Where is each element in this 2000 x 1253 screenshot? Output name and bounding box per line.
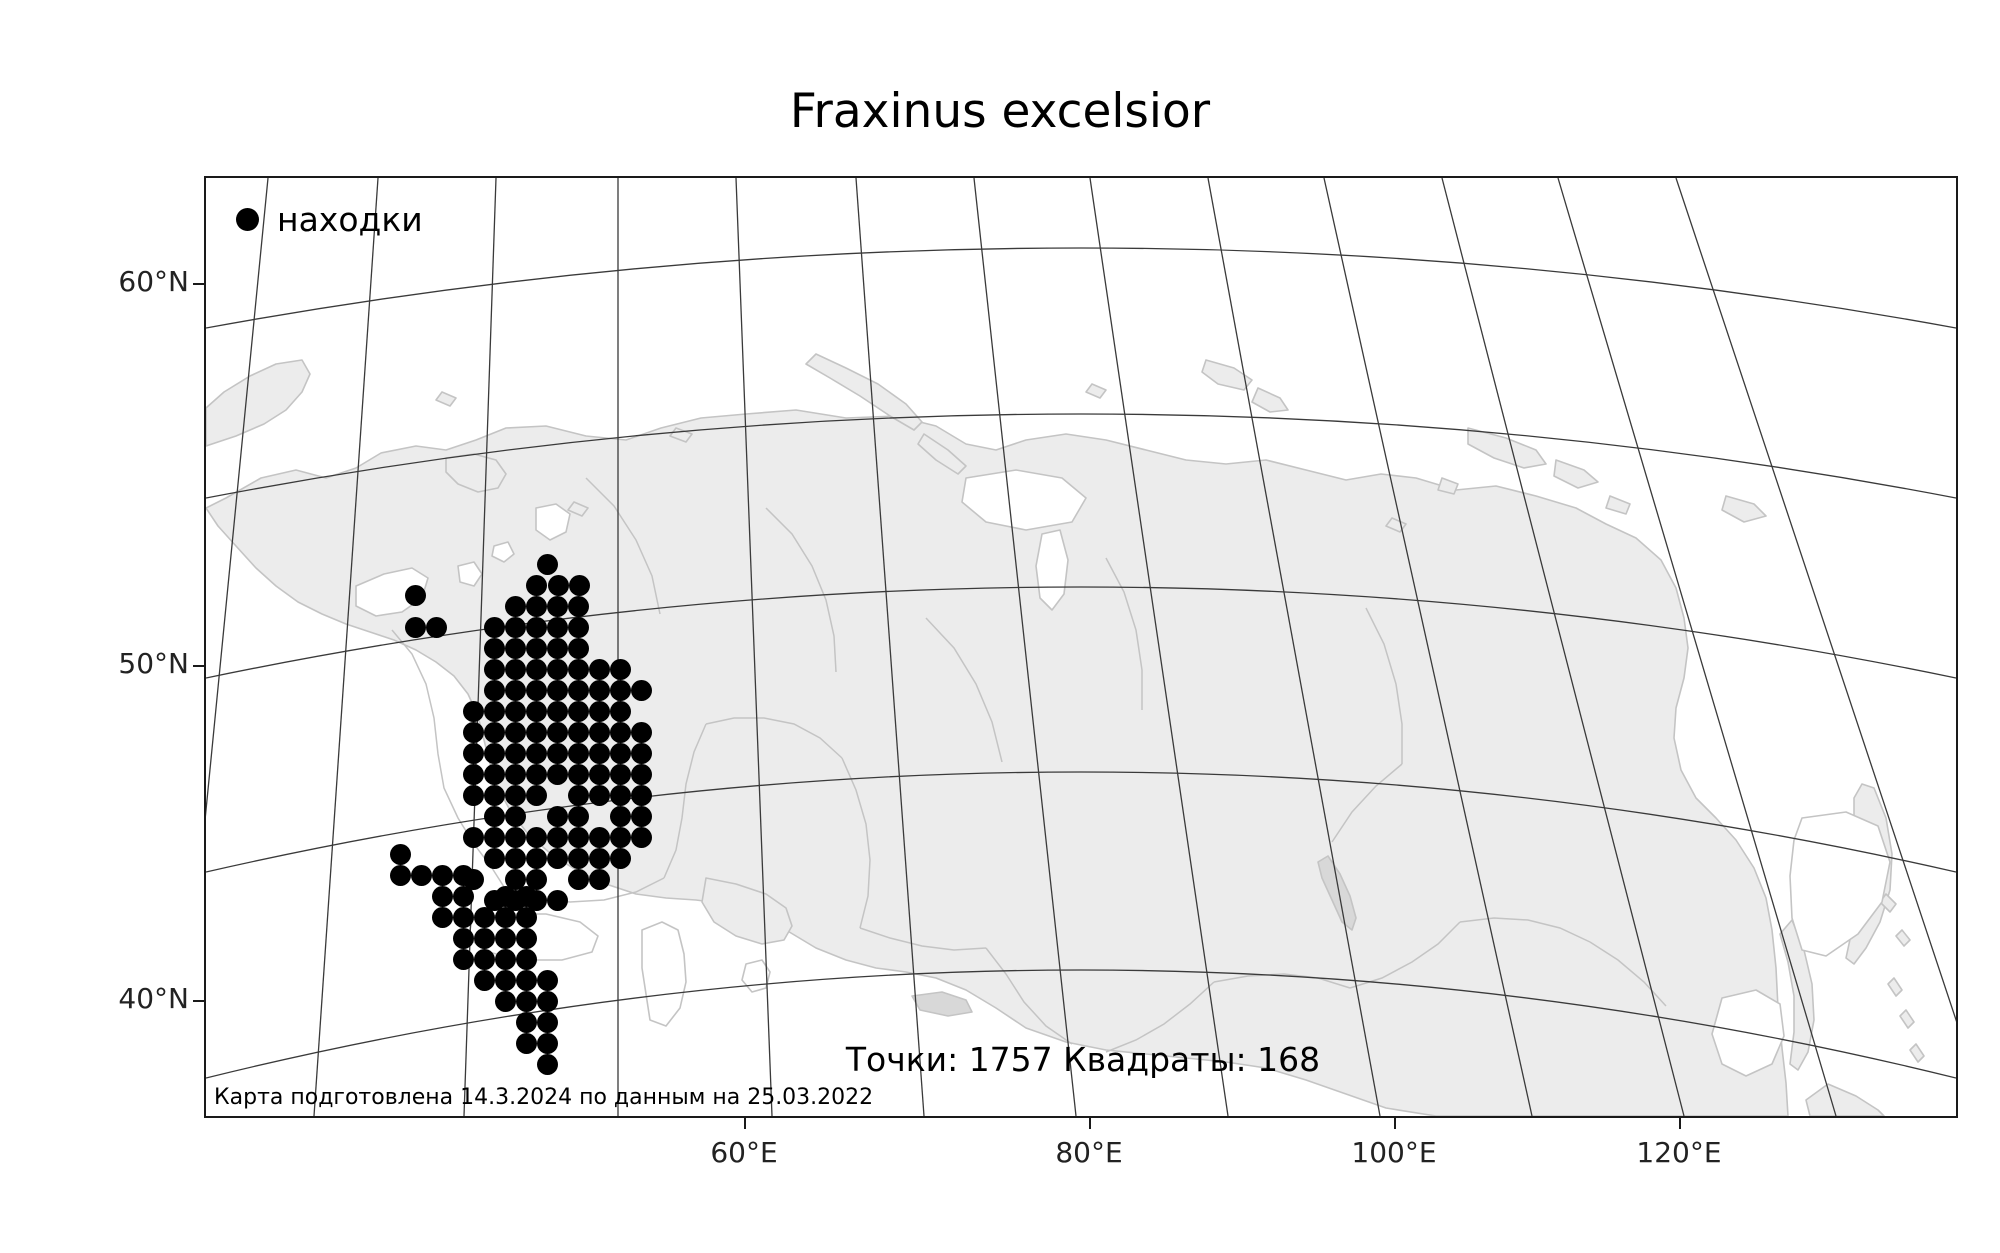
occurrence-dot	[495, 970, 516, 991]
occurrence-dot	[411, 865, 432, 886]
occurrence-dot	[516, 991, 537, 1012]
occurrence-dot	[610, 701, 631, 722]
occurrence-dot	[405, 617, 426, 638]
occurrence-dot	[568, 743, 589, 764]
occurrence-dot	[610, 806, 631, 827]
occurrence-dot	[526, 743, 547, 764]
occurrence-dot	[516, 970, 537, 991]
occurrence-dot	[537, 991, 558, 1012]
occurrence-dot	[589, 659, 610, 680]
occurrence-dot	[589, 701, 610, 722]
occurrence-dot	[547, 890, 568, 911]
occurrence-dot	[484, 743, 505, 764]
occurrence-dot	[505, 743, 526, 764]
legend: находки	[236, 200, 423, 239]
occurrence-dot	[453, 907, 474, 928]
occurrence-dot	[505, 701, 526, 722]
occurrence-dot	[631, 806, 652, 827]
occurrence-dot	[453, 949, 474, 970]
occurrence-dot	[526, 617, 547, 638]
occurrence-dot	[589, 722, 610, 743]
occurrence-dot	[631, 680, 652, 701]
lon-tick-mark	[1089, 1118, 1091, 1129]
occurrence-dot	[526, 680, 547, 701]
occurrence-dot	[610, 848, 631, 869]
occurrence-dot	[505, 806, 526, 827]
map-canvas[interactable]: находки Точки: 1757 Квадраты: 168 Карта …	[204, 176, 1958, 1118]
occurrence-dot	[589, 785, 610, 806]
occurrence-dot	[495, 949, 516, 970]
occurrence-dot	[463, 743, 484, 764]
occurrence-dot	[610, 722, 631, 743]
occurrence-dot	[484, 785, 505, 806]
occurrence-dot	[568, 764, 589, 785]
occurrence-dot	[484, 827, 505, 848]
occurrence-dot	[390, 865, 411, 886]
occurrence-dot	[474, 970, 495, 991]
occurrence-dot	[589, 827, 610, 848]
prepared-caption: Карта подготовлена 14.3.2024 по данным н…	[214, 1085, 873, 1110]
occurrence-dot	[463, 701, 484, 722]
occurrence-dot	[484, 617, 505, 638]
occurrence-dot	[505, 764, 526, 785]
occurrence-dot	[516, 949, 537, 970]
lon-tick-label: 120°E	[1599, 1136, 1759, 1169]
occurrence-dot	[526, 764, 547, 785]
occurrence-dot	[610, 764, 631, 785]
occurrence-dot	[463, 827, 484, 848]
occurrence-dot	[526, 827, 547, 848]
occurrence-dot	[569, 575, 590, 596]
occurrence-dot	[610, 659, 631, 680]
occurrence-dot	[568, 722, 589, 743]
occurrence-dot	[631, 827, 652, 848]
occurrence-dot	[432, 865, 453, 886]
occurrence-dot	[589, 743, 610, 764]
occurrence-dot	[505, 638, 526, 659]
occurrence-dot	[505, 722, 526, 743]
occurrence-dot	[547, 827, 568, 848]
occurrence-dot	[495, 907, 516, 928]
occurrence-dot	[547, 701, 568, 722]
lon-tick-mark	[1394, 1118, 1396, 1129]
occurrence-dot	[589, 848, 610, 869]
occurrence-dot	[537, 970, 558, 991]
occurrence-dot	[547, 617, 568, 638]
occurrence-dot	[484, 722, 505, 743]
occurrence-dot	[547, 659, 568, 680]
occurrence-dot	[631, 785, 652, 806]
occurrence-dot	[537, 554, 558, 575]
filled-circle-icon	[236, 208, 259, 231]
lat-tick-mark	[193, 1000, 204, 1002]
occurrence-dot	[505, 596, 526, 617]
occurrence-dot	[474, 949, 495, 970]
occurrence-dot	[484, 806, 505, 827]
occurrence-dot	[463, 785, 484, 806]
lat-tick-mark	[193, 665, 204, 667]
lon-tick-label: 100°E	[1314, 1136, 1474, 1169]
occurrence-dot	[463, 764, 484, 785]
occurrence-dot	[610, 743, 631, 764]
occurrence-dot	[495, 886, 516, 907]
occurrence-dot	[568, 785, 589, 806]
occurrence-dot	[631, 764, 652, 785]
occurrence-dot	[495, 991, 516, 1012]
occurrence-dot	[547, 806, 568, 827]
occurrence-dot	[547, 722, 568, 743]
lat-tick-label: 60°N	[69, 265, 189, 298]
occurrence-dot	[631, 722, 652, 743]
occurrence-dot	[453, 886, 474, 907]
occurrence-dot	[526, 722, 547, 743]
counts-caption: Точки: 1757 Квадраты: 168	[206, 1040, 1958, 1079]
occurrence-dot	[589, 764, 610, 785]
occurrence-dot	[484, 638, 505, 659]
occurrence-dot	[453, 865, 474, 886]
lat-tick-mark	[193, 283, 204, 285]
occurrence-dot	[568, 848, 589, 869]
occurrence-dot	[495, 928, 516, 949]
occurrence-dot	[390, 844, 411, 865]
occurrence-dot	[568, 659, 589, 680]
occurrence-dot	[516, 907, 537, 928]
occurrence-dot	[547, 596, 568, 617]
occurrence-dot	[432, 886, 453, 907]
occurrence-dot	[484, 701, 505, 722]
occurrence-dot	[537, 1012, 558, 1033]
occurrence-dot	[505, 848, 526, 869]
occurrence-dot	[474, 907, 495, 928]
occurrence-dot	[568, 596, 589, 617]
occurrence-dot	[568, 827, 589, 848]
occurrence-dot	[589, 680, 610, 701]
occurrence-dot	[568, 617, 589, 638]
occurrence-dot	[516, 928, 537, 949]
occurrence-dot	[547, 680, 568, 701]
occurrence-dot	[516, 886, 537, 907]
occurrence-dot	[505, 785, 526, 806]
occurrence-dot	[474, 928, 495, 949]
occurrence-dot	[547, 743, 568, 764]
occurrence-dot	[547, 764, 568, 785]
map-graphics	[206, 178, 1956, 1116]
occurrence-dot	[405, 585, 426, 606]
occurrence-dot	[526, 701, 547, 722]
occurrence-dot	[548, 575, 569, 596]
occurrence-dot	[526, 596, 547, 617]
lat-tick-label: 50°N	[69, 647, 189, 680]
occurrence-dot	[610, 827, 631, 848]
occurrence-dot	[526, 638, 547, 659]
occurrence-dot	[631, 743, 652, 764]
lon-tick-mark	[744, 1118, 746, 1129]
occurrence-dot	[547, 638, 568, 659]
occurrence-dot	[484, 764, 505, 785]
occurrence-dot	[568, 638, 589, 659]
distribution-map-figure: Fraxinus excelsior	[0, 0, 2000, 1253]
occurrence-dot	[568, 680, 589, 701]
occurrence-dot	[505, 680, 526, 701]
lon-tick-label: 60°E	[664, 1136, 824, 1169]
occurrence-dot	[526, 575, 547, 596]
lat-tick-label: 40°N	[69, 982, 189, 1015]
occurrence-dot	[484, 680, 505, 701]
occurrence-dot	[453, 928, 474, 949]
occurrence-dot	[526, 659, 547, 680]
occurrence-dot	[568, 701, 589, 722]
occurrence-dot	[505, 827, 526, 848]
occurrence-dot	[432, 907, 453, 928]
occurrence-dot	[589, 869, 610, 890]
lon-tick-label: 80°E	[1009, 1136, 1169, 1169]
occurrence-dot	[505, 659, 526, 680]
legend-label: находки	[277, 200, 423, 239]
occurrence-dot	[568, 806, 589, 827]
occurrence-dot	[526, 785, 547, 806]
occurrence-dot	[484, 659, 505, 680]
occurrence-dot	[568, 869, 589, 890]
occurrence-dot	[505, 617, 526, 638]
occurrence-dot	[463, 722, 484, 743]
occurrence-dot	[426, 617, 447, 638]
occurrence-dot	[610, 785, 631, 806]
occurrence-dot	[547, 848, 568, 869]
occurrence-dot	[484, 848, 505, 869]
occurrence-dot	[516, 1012, 537, 1033]
occurrence-dot	[526, 848, 547, 869]
lon-tick-mark	[1679, 1118, 1681, 1129]
occurrence-dot	[610, 680, 631, 701]
page-title: Fraxinus excelsior	[0, 84, 2000, 139]
